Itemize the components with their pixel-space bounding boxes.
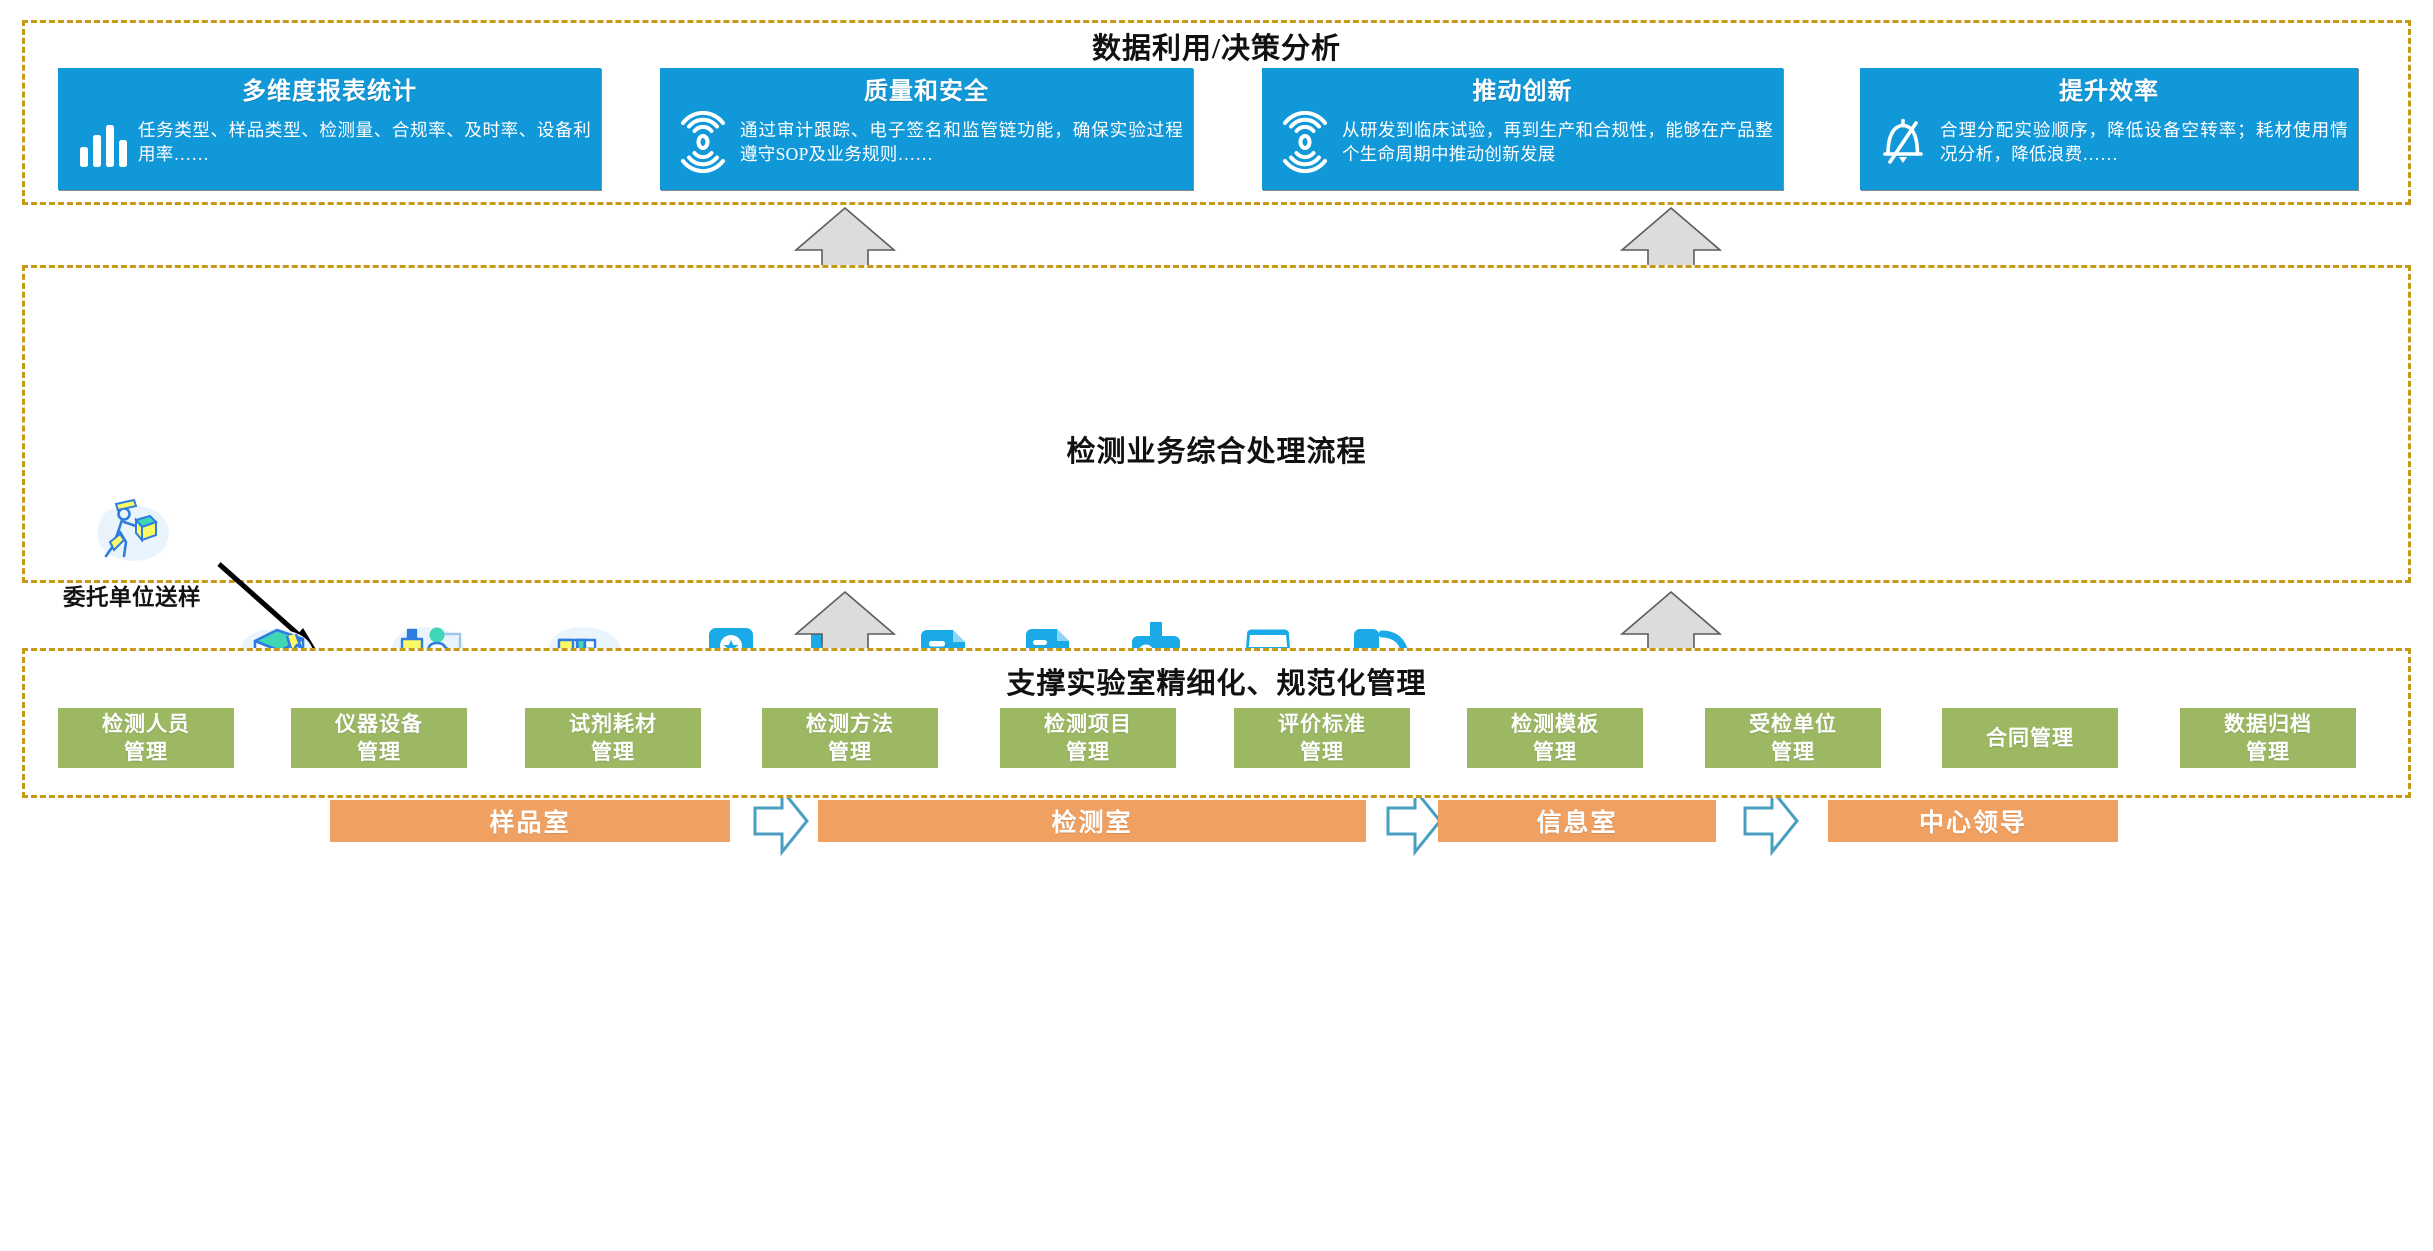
module-data-archive-management[interactable]: 数据归档 管理 [2180,708,2356,768]
gray-up-arrow-support-left [790,590,900,652]
module-label-line1: 仪器设备 [335,710,423,738]
section-title-top: 数据利用/决策分析 [0,25,2433,67]
module-label-line1: 评价标准 [1278,710,1366,738]
department-label: 样品室 [489,803,570,839]
feature-card-report-statistics[interactable]: 多维度报表统计 任务类型、样品类型、检测量、合规率、及时率、设备利用率…… [58,68,601,190]
gray-up-arrow-right [1616,206,1726,268]
module-label-line1: 数据归档 [2224,710,2312,738]
module-label-line1: 检测模板 [1511,710,1599,738]
module-personnel-management[interactable]: 检测人员 管理 [58,708,234,768]
module-equipment-management[interactable]: 仪器设备 管理 [291,708,467,768]
department-bar-information-room[interactable]: 信息室 [1438,800,1716,842]
department-label: 中心领导 [1919,803,2027,839]
module-label-line1: 受检单位 [1749,710,1837,738]
module-label-line2: 管理 [828,738,872,766]
module-label-line2: 管理 [1300,738,1344,766]
module-label-line2: 管理 [591,738,635,766]
card-title: 质量和安全 [660,79,1193,105]
bell-slash-icon [1870,109,1936,175]
module-label-line2: 管理 [357,738,401,766]
feature-card-quality-safety[interactable]: 质量和安全 通过审计跟踪、电子签名和监管链功能，确保实验过程遵守SOP及业务规则… [660,68,1193,190]
feature-card-innovation[interactable]: 推动创新 从研发到临床试验，再到生产和合规性，能够在产品整个生命周期中推动创新发… [1262,68,1783,190]
module-label-line1: 试剂耗材 [569,710,657,738]
card-title: 多维度报表统计 [58,79,601,105]
business-process-section [22,265,2411,583]
department-label: 信息室 [1536,803,1617,839]
fingerprint-icon [670,109,736,175]
feature-card-efficiency[interactable]: 提升效率 合理分配实验顺序，降低设备空转率；耗材使用情况分析，降低浪费…… [1860,68,2358,190]
module-reagent-consumable-management[interactable]: 试剂耗材 管理 [525,708,701,768]
card-description: 合理分配实验顺序，降低设备空转率；耗材使用情况分析，降低浪费…… [1940,118,2348,168]
module-contract-management[interactable]: 合同管理 [1942,708,2118,768]
module-label-line1: 检测人员 [102,710,190,738]
card-title: 推动创新 [1262,79,1783,105]
entry-node-client-delivery[interactable]: 委托单位送样 [32,490,232,612]
module-inspected-unit-management[interactable]: 受检单位 管理 [1705,708,1881,768]
gray-up-arrow-left [790,206,900,268]
section-title-bottom: 支撑实验室精细化、规范化管理 [0,660,2433,702]
module-label-line1: 检测方法 [806,710,894,738]
module-test-method-management[interactable]: 检测方法 管理 [762,708,938,768]
gray-up-arrow-support-right [1616,590,1726,652]
card-title: 提升效率 [1860,79,2358,105]
department-bar-testing-room[interactable]: 检测室 [818,800,1366,842]
module-evaluation-standard-management[interactable]: 评价标准 管理 [1234,708,1410,768]
department-label: 检测室 [1051,803,1132,839]
department-bar-center-leadership[interactable]: 中心领导 [1828,800,2118,842]
module-label-line2: 管理 [124,738,168,766]
card-description: 任务类型、样品类型、检测量、合规率、及时率、设备利用率…… [138,118,591,168]
section-title-middle: 检测业务综合处理流程 [0,428,2433,470]
fingerprint-icon [1272,109,1338,175]
delivery-person-icon [80,490,184,576]
module-label-line2: 管理 [2246,738,2290,766]
module-label-line2: 管理 [1771,738,1815,766]
entry-label: 委托单位送样 [32,580,232,612]
department-bar-sample-room[interactable]: 样品室 [330,800,730,842]
card-description: 从研发到临床试验，再到生产和合规性，能够在产品整个生命周期中推动创新发展 [1342,118,1773,168]
module-label-line2: 管理 [1066,738,1110,766]
bar-chart-icon [68,109,134,175]
module-label-line1: 合同管理 [1986,724,2074,752]
module-label-line2: 管理 [1533,738,1577,766]
module-test-template-management[interactable]: 检测模板 管理 [1467,708,1643,768]
module-test-item-management[interactable]: 检测项目 管理 [1000,708,1176,768]
module-label-line1: 检测项目 [1044,710,1132,738]
card-description: 通过审计跟踪、电子签名和监管链功能，确保实验过程遵守SOP及业务规则…… [740,118,1183,168]
